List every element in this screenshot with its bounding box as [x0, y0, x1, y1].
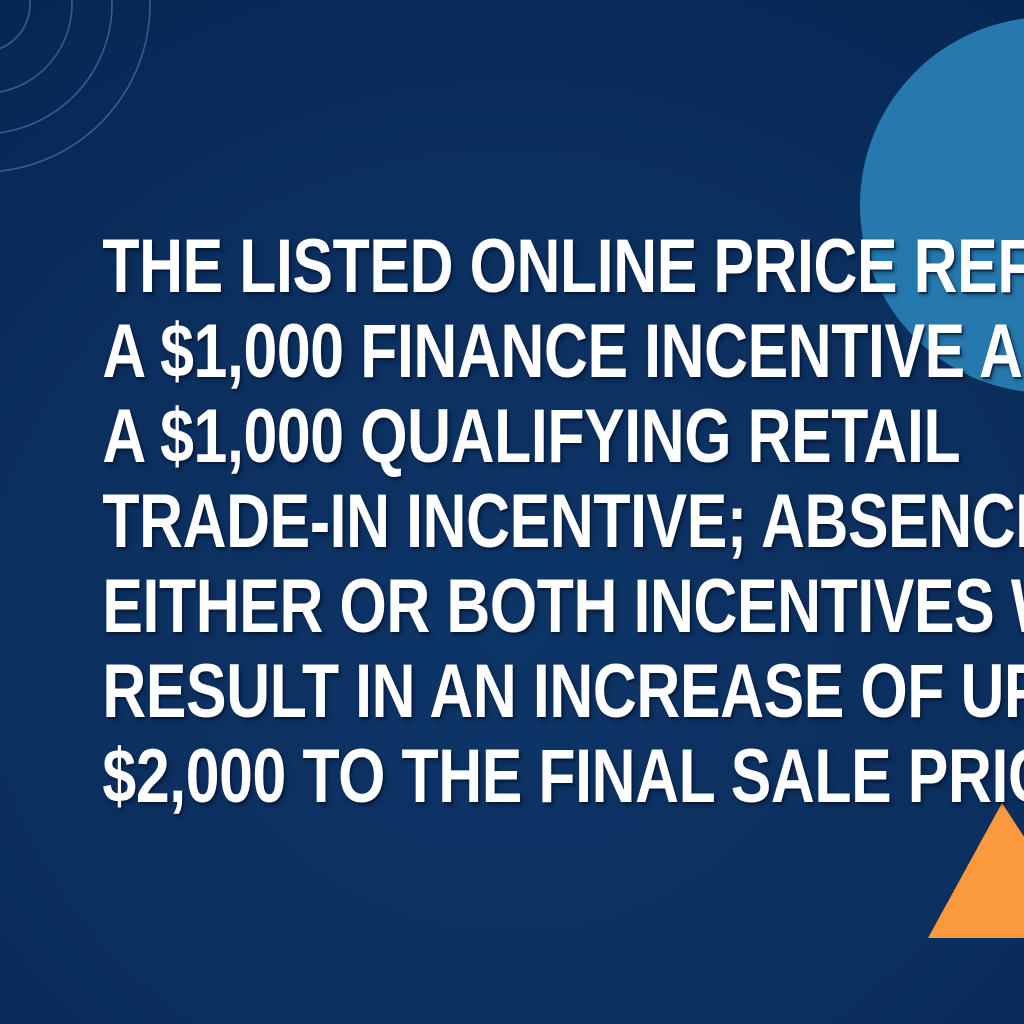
- headline-line-1: THE LISTED ONLINE PRICE REFLECTS: [102, 224, 921, 309]
- headline-line-2: A $1,000 FINANCE INCENTIVE AND: [102, 309, 921, 394]
- headline-line-4: TRADE-IN INCENTIVE; ABSENCE OF: [102, 479, 921, 564]
- headline-line-3: A $1,000 QUALIFYING RETAIL: [102, 394, 921, 479]
- promo-disclaimer-graphic: THE LISTED ONLINE PRICE REFLECTS A $1,00…: [0, 0, 1024, 1024]
- disclaimer-headline: THE LISTED ONLINE PRICE REFLECTS A $1,00…: [0, 0, 1024, 1024]
- headline-line-6: RESULT IN AN INCREASE OF UP TO: [102, 649, 921, 734]
- headline-line-7: $2,000 TO THE FINAL SALE PRICE.: [102, 734, 921, 819]
- headline-line-5: EITHER OR BOTH INCENTIVES WILL: [102, 564, 921, 649]
